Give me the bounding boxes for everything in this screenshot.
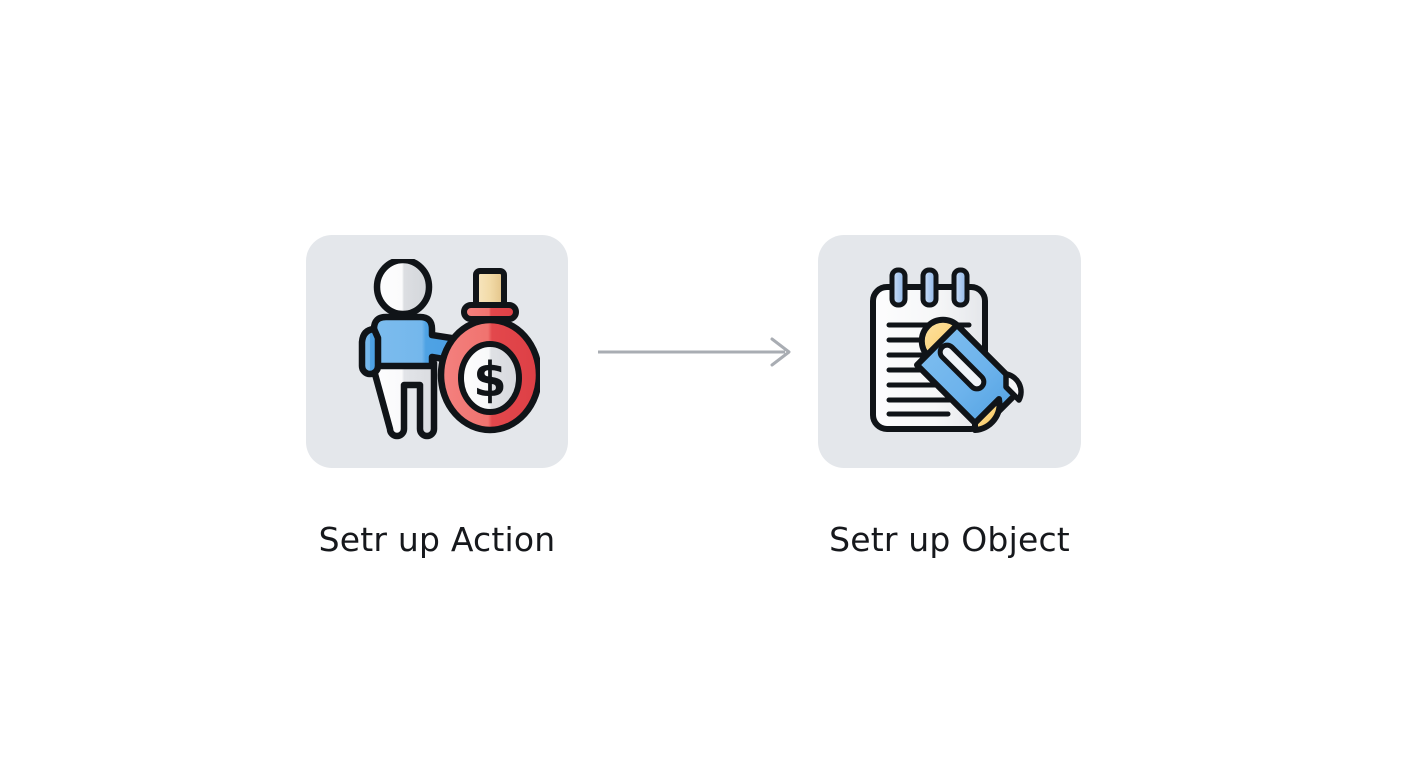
notepad-spiral-rings — [892, 270, 967, 305]
step-object-card[interactable] — [818, 235, 1081, 468]
spiral-ring — [954, 270, 967, 305]
step-action-card[interactable]: $ — [306, 235, 568, 468]
person-legs — [372, 363, 434, 436]
person-left-arm — [362, 329, 378, 374]
person-head — [377, 260, 429, 314]
flow-step-object[interactable]: Setr up Object — [818, 235, 1081, 556]
step-object-label: Setr up Object — [829, 523, 1070, 556]
flow-step-action[interactable]: $ Setr up Action — [306, 235, 568, 556]
arrow-right-icon — [590, 332, 802, 372]
spiral-ring — [892, 270, 905, 305]
spiral-ring — [923, 270, 936, 305]
notepad-with-pen-icon — [856, 263, 1044, 441]
person-with-money-bag-icon: $ — [334, 259, 540, 445]
flow-diagram: $ Setr up Action — [0, 0, 1408, 768]
dollar-sign-icon: $ — [473, 352, 506, 408]
step-action-label: Setr up Action — [319, 523, 556, 556]
money-bag-cap — [476, 271, 504, 305]
